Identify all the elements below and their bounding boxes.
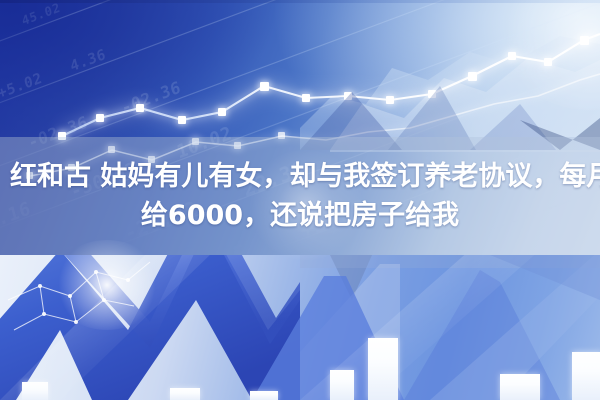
news-banner: -0.05-1.25+5.0221.052.05-11.25-02.3645.0… bbox=[0, 0, 600, 400]
top-edge-shade bbox=[0, 0, 600, 3]
headline-line-1: 红和古 姑妈有儿有女，却与我签订养老协议，每月 bbox=[6, 157, 600, 196]
bar-chart-bar bbox=[572, 352, 600, 400]
bar-chart-bar bbox=[500, 374, 540, 400]
bar-chart-bar bbox=[330, 370, 354, 400]
bar-chart-bar bbox=[250, 391, 278, 400]
headline-line-2: 给6000，还说把房子给我 bbox=[141, 196, 459, 235]
bar-chart-bar bbox=[368, 338, 398, 400]
bar-chart-bar bbox=[170, 388, 200, 400]
headline-block: 红和古 姑妈有儿有女，却与我签订养老协议，每月 给6000，还说把房子给我 bbox=[0, 137, 600, 255]
bar-chart-bar bbox=[22, 382, 48, 400]
